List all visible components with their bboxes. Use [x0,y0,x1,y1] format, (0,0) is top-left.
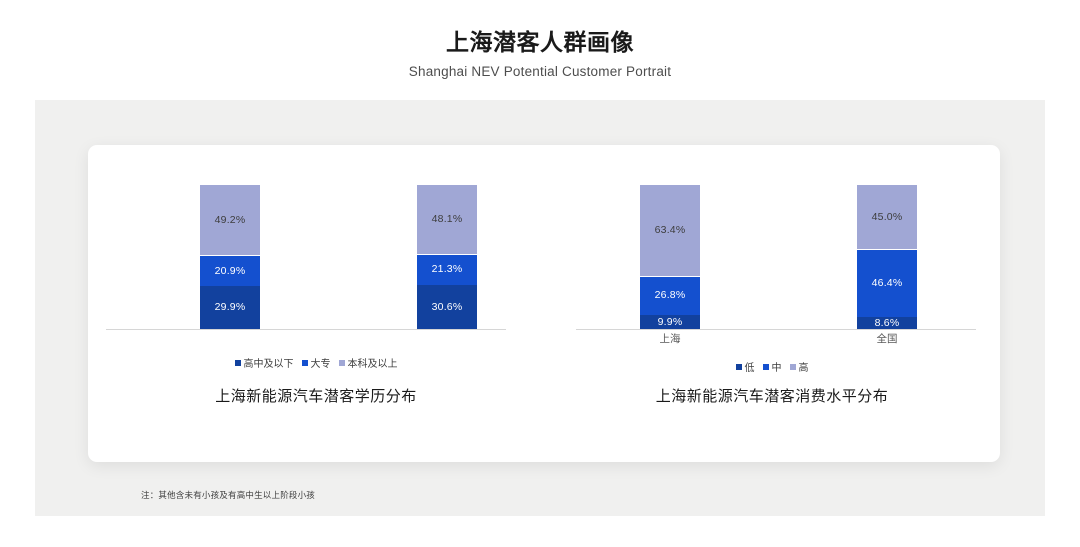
legend-item[interactable]: 高 [790,359,809,374]
bar-segment-high: 63.4% [640,184,700,276]
legend-swatch-icon [763,364,769,370]
bar-segment-high: 49.2% [200,184,260,255]
segment-value-label: 46.4% [872,278,903,289]
footnote: 注：其他含未有小孩及有高中生以上阶段小孩 [141,489,315,501]
legend-swatch-icon [339,360,345,366]
legend-label: 低 [745,363,755,374]
chart-education: 49.2% 20.9% 29.9% 48.1% 21.3% [88,145,544,462]
bar-segment-mid: 26.8% [640,276,700,315]
segment-value-label: 45.0% [872,212,903,223]
legend-swatch-icon [736,364,742,370]
page-subtitle: Shanghai NEV Potential Customer Portrait [0,57,1080,79]
bar-segment-high: 48.1% [417,184,477,254]
chart-spending: 63.4% 26.8% 9.9% 45.0% 46.4% [544,145,1000,462]
chart-legend-education: 高中及以下 大专 本科及以上 [88,354,544,372]
category-label: 全国 [857,331,917,346]
stacked-bar[interactable]: 45.0% 46.4% 8.6% [857,184,917,329]
segment-value-label: 26.8% [655,290,686,301]
segment-value-label: 48.1% [432,214,463,225]
legend-label: 中 [772,363,782,374]
bar-segment-low: 9.9% [640,315,700,329]
segment-value-label: 29.9% [215,302,246,313]
page-header: 上海潜客人群画像 Shanghai NEV Potential Customer… [0,0,1080,79]
bar-segment-mid: 46.4% [857,249,917,316]
plot-area-education: 49.2% 20.9% 29.9% 48.1% 21.3% [88,185,544,330]
content-panel: 49.2% 20.9% 29.9% 48.1% 21.3% [35,100,1045,516]
stacked-bar[interactable]: 48.1% 21.3% 30.6% [417,184,477,329]
segment-value-label: 9.9% [658,317,683,328]
segment-value-label: 8.6% [875,318,900,329]
page-title: 上海潜客人群画像 [0,0,1080,57]
legend-label: 高中及以下 [244,359,294,370]
chart-legend-spending: 低 中 高 [544,358,1000,376]
stacked-bar[interactable]: 49.2% 20.9% 29.9% [200,184,260,329]
plot-area-spending: 63.4% 26.8% 9.9% 45.0% 46.4% [544,185,1000,330]
bar-segment-mid: 21.3% [417,254,477,285]
bar-segment-mid: 20.9% [200,255,260,285]
category-axis-labels: 上海 全国 [544,331,1000,347]
segment-value-label: 21.3% [432,264,463,275]
segment-value-label: 63.4% [655,225,686,236]
legend-item[interactable]: 本科及以上 [339,355,398,370]
stacked-bar[interactable]: 63.4% 26.8% 9.9% [640,184,700,329]
legend-swatch-icon [302,360,308,366]
bar-segment-high: 45.0% [857,184,917,249]
chart-caption: 上海新能源汽车潜客消费水平分布 [544,385,1000,406]
category-label: 上海 [640,331,700,346]
segment-value-label: 20.9% [215,266,246,277]
axis-line [106,329,506,330]
bar-segment-low: 8.6% [857,317,917,329]
segment-value-label: 30.6% [432,302,463,313]
legend-label: 高 [799,363,809,374]
bar-segment-low: 30.6% [417,285,477,329]
bar-segment-low: 29.9% [200,286,260,329]
legend-label: 本科及以上 [348,359,398,370]
legend-item[interactable]: 中 [763,359,782,374]
segment-value-label: 49.2% [215,215,246,226]
legend-swatch-icon [235,360,241,366]
charts-card: 49.2% 20.9% 29.9% 48.1% 21.3% [88,145,1000,462]
legend-item[interactable]: 低 [736,359,755,374]
legend-item[interactable]: 大专 [302,355,331,370]
legend-swatch-icon [790,364,796,370]
legend-item[interactable]: 高中及以下 [235,355,294,370]
chart-caption: 上海新能源汽车潜客学历分布 [88,385,544,406]
legend-label: 大专 [311,359,331,370]
axis-line [576,329,976,330]
